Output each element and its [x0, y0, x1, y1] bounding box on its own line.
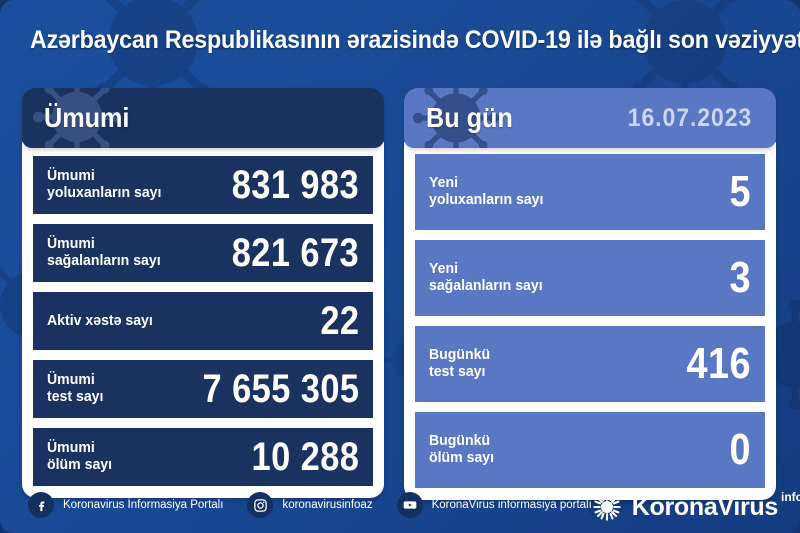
total-panel-header: Ümumi: [22, 88, 384, 148]
today-panel-header: Bu gün 16.07.2023: [404, 88, 776, 148]
total-stats-list: Ümumi yoluxanların sayı 831 983 Ümumi sa…: [22, 142, 384, 498]
page-title: Azərbaycan Respublikasının ərazisində CO…: [30, 26, 726, 66]
covid-stats-infographic: Azərbaycan Respublikasının ərazisində CO…: [0, 0, 800, 533]
brand-suffix: info: [781, 490, 800, 504]
table-row: Ümumi yoluxanların sayı 831 983: [33, 156, 373, 214]
stat-label: Aktiv xəstə sayı: [47, 313, 153, 330]
stat-value: 5: [730, 170, 751, 214]
brand-logo: KoronaVirus info: [592, 492, 778, 522]
report-date: 16.07.2023: [628, 104, 752, 133]
facebook-icon: [28, 492, 54, 518]
stat-label: Ümumi ölüm sayı: [47, 440, 112, 474]
table-row: Ümumi sağalanların sayı 821 673: [33, 224, 373, 282]
stat-value: 10 288: [251, 437, 359, 477]
instagram-icon: [247, 492, 273, 518]
today-stats-list: Yeni yoluxanların sayı 5 Yeni sağalanlar…: [404, 142, 776, 500]
social-label: Koronavirus İnformasiya Portalı: [63, 499, 223, 511]
stat-value: 3: [730, 256, 751, 300]
today-panel-title: Bu gün: [426, 102, 513, 134]
stat-value: 831 983: [232, 165, 359, 205]
stat-label: Ümumi test sayı: [47, 372, 103, 406]
brand-name-text: KoronaVirus: [632, 493, 778, 521]
table-row: Aktiv xəstə sayı 22: [33, 292, 373, 350]
youtube-icon: [397, 492, 423, 518]
stat-value: 7 655 305: [202, 369, 359, 409]
social-link-youtube[interactable]: KoronaVirus informasiya portalı: [397, 492, 592, 518]
social-label: KoronaVirus informasiya portalı: [432, 499, 592, 511]
stat-value: 821 673: [232, 233, 359, 273]
total-panel-title: Ümumi: [44, 102, 129, 134]
social-link-instagram[interactable]: koronavirusinfoaz: [247, 492, 372, 518]
stat-value: 416: [687, 342, 751, 386]
social-link-facebook[interactable]: Koronavirus İnformasiya Portalı: [28, 492, 223, 518]
table-row: Bugünkü test sayı 416: [415, 326, 765, 402]
table-row: Yeni yoluxanların sayı 5: [415, 154, 765, 230]
stat-value: 22: [320, 301, 359, 341]
total-stats-panel: Ümumi Ümumi yoluxanların sayı 831 983 Üm…: [22, 88, 384, 498]
stat-label: Yeni yoluxanların sayı: [429, 175, 543, 209]
stat-label: Yeni sağalanların sayı: [429, 261, 543, 295]
stat-label: Bugünkü ölüm sayı: [429, 433, 494, 467]
stat-label: Ümumi sağalanların sayı: [47, 236, 161, 270]
table-row: Ümumi test sayı 7 655 305: [33, 360, 373, 418]
brand-name: KoronaVirus info: [632, 493, 778, 522]
stat-label: Bugünkü test sayı: [429, 347, 490, 381]
stat-value: 0: [730, 428, 751, 472]
social-label: koronavirusinfoaz: [282, 499, 372, 511]
virus-logo-icon: [592, 492, 622, 522]
table-row: Yeni sağalanların sayı 3: [415, 240, 765, 316]
today-stats-panel: Bu gün 16.07.2023 Yeni yoluxanların sayı…: [404, 88, 776, 500]
stat-label: Ümumi yoluxanların sayı: [47, 168, 161, 202]
